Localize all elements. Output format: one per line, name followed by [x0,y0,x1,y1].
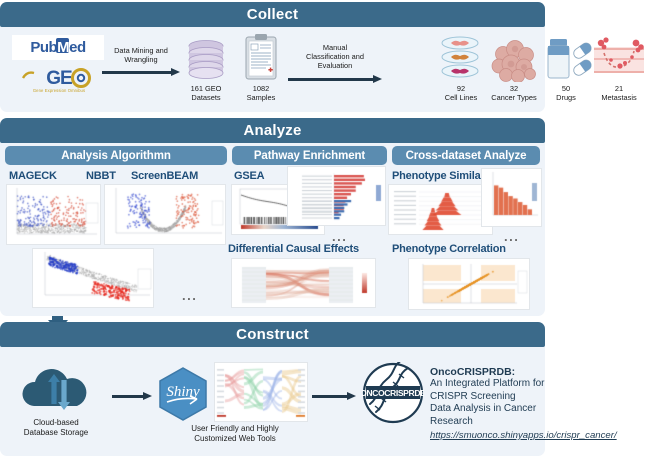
pubmed-label: Pub [30,39,57,56]
collect-arrow1-label: Data Mining and Wrangling [100,46,182,64]
product-url-link[interactable]: https://smuonco.shinyapps.io/crispr_canc… [430,430,617,441]
product-line: CRISPR Screening [430,391,548,404]
svg-text:GE: GE [46,68,72,89]
collect-item-caption: 50 Drugs [544,84,588,102]
product-line: An Integrated Platform for [430,378,548,391]
product-description: OncoCRISPRDB: An Integrated Platform for… [430,366,548,428]
collect-item-caption: 92 Cell Lines [436,84,486,102]
panel-title-differential-causal-effects: Differential Causal Effects [228,243,359,255]
figure-root: Data Mining [0,0,660,460]
collect-arrow-2 [288,75,382,84]
plot-thumbnail-nbbt [32,248,154,308]
cloud-upload-download-icon [18,366,94,417]
panel-title-gsea: GSEA [234,170,264,182]
construct-step-caption: Cloud-based Database Storage [6,418,106,438]
section-collect: Collect Pub M ed GE Gene Expression Omni… [0,2,545,112]
geo-logo: GE Gene Expression Omnibus [14,68,104,93]
collect-arrow2-label: Manual Classification and Evaluation [287,43,383,70]
section-construct: Construct Cloud-based Database Storage [0,322,545,456]
collect-item-caption: 161 GEO Datasets [176,84,236,102]
method-label-nbbt: NBBT [86,170,116,182]
section-construct-title: Construct [0,322,545,347]
database-stack-icon [182,38,230,85]
plot-thumbnail-similarity [388,184,493,235]
plot-thumbnail-screenbeam [104,184,226,245]
pill-bottle-icon [546,35,594,86]
collect-item-number: 92 [436,84,486,93]
oncocrisprdb-logo-text: ONCOCRISPRDB [362,388,424,398]
plot-thumbnail-pathway-bars [287,166,386,226]
construct-arrow-1 [112,392,152,401]
plot-thumbnail-sankey [214,362,308,422]
crossdataset-ellipsis: ... [504,234,519,240]
collect-item-caption: 21 Metastasis [592,84,646,102]
shiny-hexagon-icon: Shiny [157,366,209,427]
collect-item-label: Samples [247,93,276,102]
section-analyze: Analyze Analysis Algorithmn Pathway Enri… [0,118,545,316]
petri-dish-icon [438,35,482,86]
pubmed-m-glyph: M [57,39,69,56]
geo-sublabel: Gene Expression Omnibus [14,88,104,93]
collect-item-label: Cancer Types [491,93,536,102]
pathway-ellipsis: ... [332,234,347,240]
method-label-screenbeam: ScreenBEAM [131,170,198,182]
tumor-cluster-icon [490,40,538,87]
subpanel-analysis-algorithm-header: Analysis Algorithmn [5,146,227,165]
collect-item-number: 50 [544,84,588,93]
section-analyze-title: Analyze [0,118,545,143]
collect-item-caption: 1082 Samples [231,84,291,102]
product-line: Data Analysis in Cancer Research [430,403,548,428]
section-collect-title: Collect [0,2,545,27]
algorithm-ellipsis: ... [182,293,197,299]
construct-step-caption: User Friendly and Highly Customized Web … [160,424,310,444]
metastasis-icon [592,35,646,86]
plot-thumbnail-mageck [6,184,101,245]
pubmed-suffix: ed [69,39,86,56]
collect-item-label: Datasets [191,93,220,102]
collect-item-number: 161 GEO [176,84,236,93]
clipboard-icon [244,33,278,86]
subpanel-pathway-enrichment-header: Pathway Enrichment [232,146,387,165]
plot-thumbnail-similarity-bars [481,168,542,227]
pubmed-logo: Pub M ed [12,35,104,60]
construct-arrow-2 [312,392,356,401]
product-title: OncoCRISPRDB: [430,366,548,378]
collect-item-label: Metastasis [601,93,636,102]
collect-item-caption: 32 Cancer Types [486,84,542,102]
oncocrisprdb-circle-dna-icon: ONCOCRISPRDB [362,362,424,429]
method-label-mageck: MAGECK [9,170,57,182]
panel-title-phenotype-correlation: Phenotype Correlation [392,243,506,255]
plot-thumbnail-correlation [408,258,530,310]
plot-thumbnail-causal [231,258,376,308]
collect-arrow-1 [102,68,180,77]
collect-item-label: Drugs [556,93,576,102]
collect-item-number: 32 [486,84,542,93]
collect-item-number: 21 [592,84,646,93]
collect-item-label: Cell Lines [445,93,477,102]
subpanel-crossdataset-header: Cross-dataset Analyze [392,146,540,165]
collect-item-number: 1082 [231,84,291,93]
